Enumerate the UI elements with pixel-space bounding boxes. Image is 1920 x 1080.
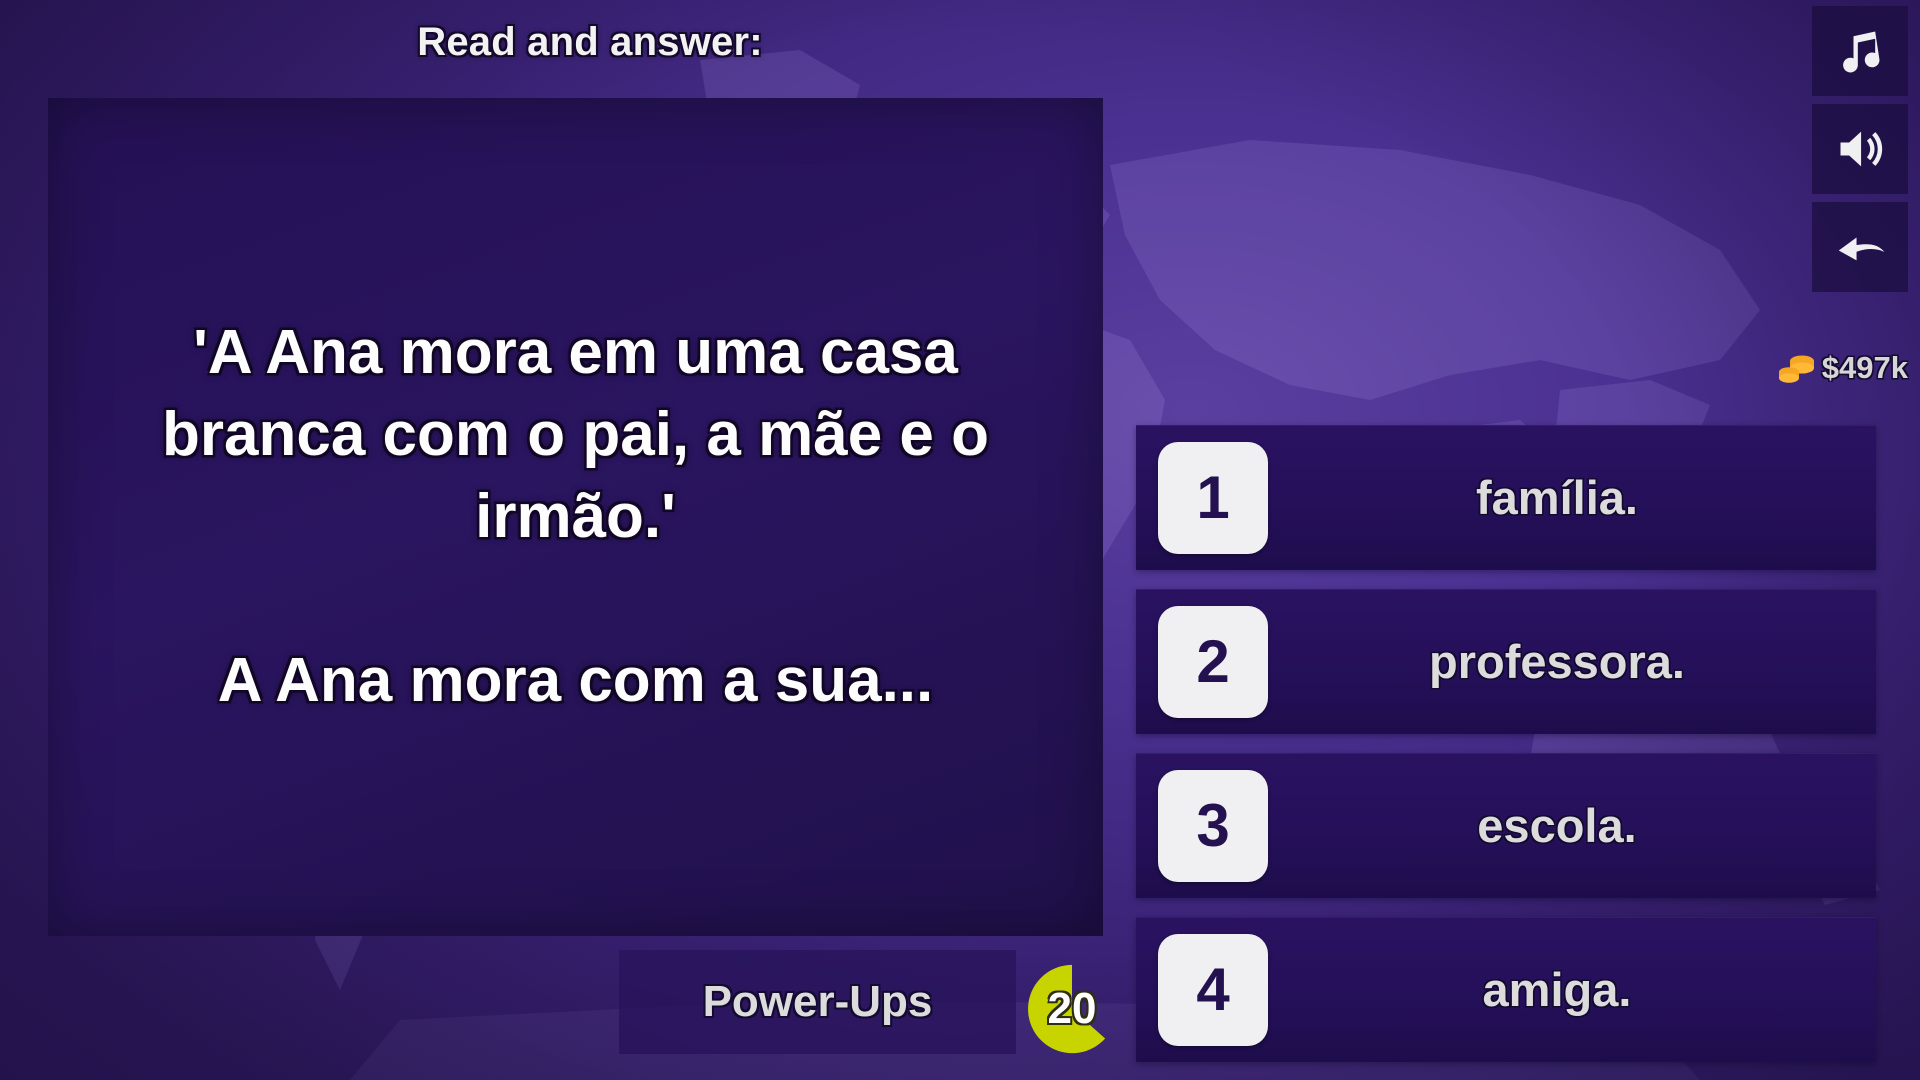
answer-option-3[interactable]: 3 escola. [1136, 753, 1876, 898]
coins-icon [1776, 351, 1818, 385]
music-button[interactable] [1812, 6, 1908, 96]
control-rail [1812, 6, 1910, 300]
answer-label: amiga. [1268, 962, 1876, 1017]
answer-option-2[interactable]: 2 professora. [1136, 589, 1876, 734]
back-button[interactable] [1812, 202, 1908, 292]
answer-number-badge: 1 [1158, 442, 1268, 554]
coin-amount: $497k [1822, 350, 1908, 386]
back-arrow-icon [1834, 221, 1886, 273]
answer-options-list: 1 família. 2 professora. 3 escola. 4 ami… [1136, 425, 1876, 1080]
answer-label: família. [1268, 470, 1876, 525]
answer-number-badge: 4 [1158, 934, 1268, 1046]
answer-number-badge: 2 [1158, 606, 1268, 718]
answer-label: escola. [1268, 798, 1876, 853]
answer-label: professora. [1268, 634, 1876, 689]
sound-icon [1834, 123, 1886, 175]
music-icon [1834, 25, 1886, 77]
countdown-timer: 20 [1026, 963, 1118, 1055]
currency-display: $497k [1776, 350, 1908, 386]
answer-option-1[interactable]: 1 família. [1136, 425, 1876, 570]
question-text: 'A Ana mora em uma casa branca com o pai… [88, 312, 1063, 721]
answer-option-4[interactable]: 4 amiga. [1136, 917, 1876, 1062]
answer-number-badge: 3 [1158, 770, 1268, 882]
powerups-button[interactable]: Power-Ups [619, 950, 1016, 1054]
game-stage: Read and answer: 'A Ana mora em uma casa… [0, 0, 1920, 1080]
sound-button[interactable] [1812, 104, 1908, 194]
page-title: Read and answer: [0, 20, 1180, 65]
question-panel: 'A Ana mora em uma casa branca com o pai… [48, 98, 1103, 936]
timer-value: 20 [1026, 963, 1118, 1055]
